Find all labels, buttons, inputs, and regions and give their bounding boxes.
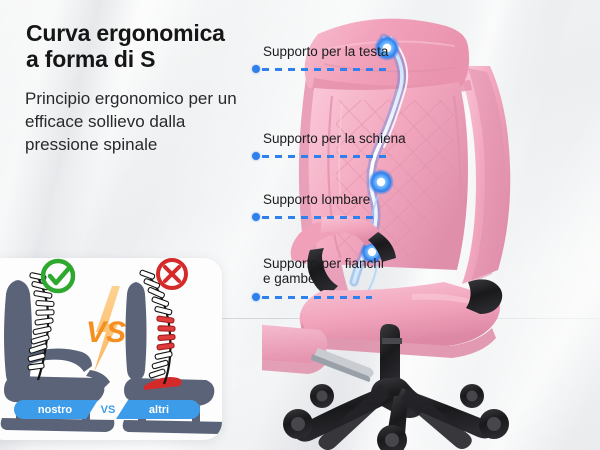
comparison-pill-bar: nostro VS altri [14,400,200,419]
callout-hips-legs-leader [252,292,372,302]
callout-back-leader [252,151,386,161]
callout-back: Supporto per la schiena [252,131,406,146]
leader-dash [262,155,386,158]
leader-dot-icon [252,293,260,301]
page-title: Curva ergonomica a forma di S [26,20,276,72]
infographic-canvas: Curva ergonomica a forma di S Principio … [0,0,600,450]
leader-dot-icon [252,65,260,73]
leader-dot-icon [252,213,260,221]
callout-hips-legs: Supporto per fianchi e gambe [252,256,384,286]
callout-head-leader [252,64,392,74]
page-subtitle: Principio ergonomico per un efficace sol… [25,87,260,156]
vs-badge-text: VS [86,316,126,349]
callout-lumbar-label: Supporto lombare [252,192,370,207]
callout-head-label: Supporto per la testa [252,44,388,59]
callout-lumbar-leader [252,212,374,222]
comparison-card: VS [0,258,222,440]
callout-hips-legs-label: Supporto per fianchi e gambe [252,256,384,286]
callout-head: Supporto per la testa [252,44,388,59]
callout-back-label: Supporto per la schiena [252,131,406,146]
leader-dash [262,296,372,299]
leader-dash [262,216,374,219]
leader-dot-icon [252,152,260,160]
leader-dash [262,68,392,71]
callout-lumbar: Supporto lombare [252,192,370,207]
pill-ours-label: nostro [38,404,72,416]
pill-theirs-label: altri [149,404,169,416]
